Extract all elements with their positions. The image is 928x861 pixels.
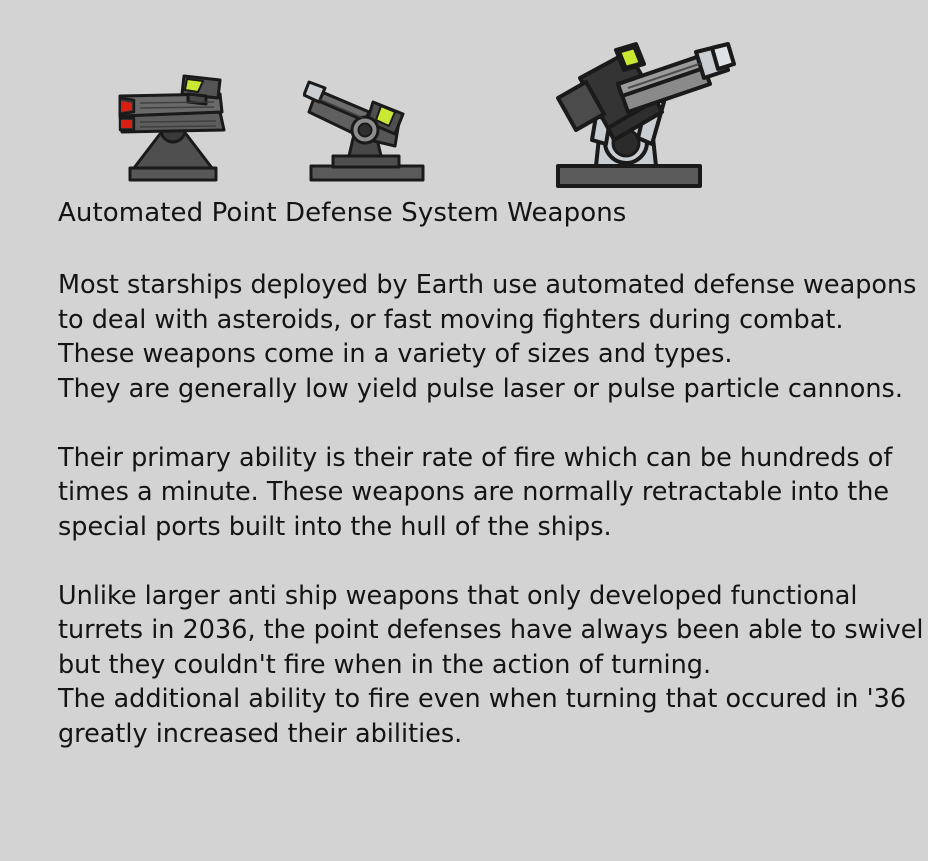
twin-barrel-turret-graphic — [108, 72, 238, 184]
body-text-block: Most starships deployed by Earth use aut… — [58, 268, 908, 751]
paragraph-rate-of-fire: Their primary ability is their rate of f… — [58, 441, 908, 545]
heavy-turret-graphic — [552, 40, 742, 192]
paragraph-turret-history: Unlike larger anti ship weapons that onl… — [58, 579, 908, 752]
page-root: Automated Point Defense System Weapons M… — [0, 0, 928, 861]
text-line: The additional ability to fire even when… — [58, 682, 908, 717]
text-line: to deal with asteroids, or fast moving f… — [58, 303, 908, 338]
angled-cannon-graphic — [303, 68, 435, 184]
text-line: but they couldn't fire when in the actio… — [58, 648, 908, 683]
text-line: These weapons come in a variety of sizes… — [58, 337, 908, 372]
text-line: Their primary ability is their rate of f… — [58, 441, 908, 476]
text-line: greatly increased their abilities. — [58, 717, 908, 752]
weapon-illustration-strip — [0, 0, 928, 192]
twin-barrel-point-defense-turret — [108, 72, 238, 184]
text-line: special ports built into the hull of the… — [58, 510, 908, 545]
text-line: times a minute. These weapons are normal… — [58, 475, 908, 510]
text-line: Most starships deployed by Earth use aut… — [58, 268, 908, 303]
text-line: turrets in 2036, the point defenses have… — [58, 613, 908, 648]
text-line: They are generally low yield pulse laser… — [58, 372, 908, 407]
paragraph-overview: Most starships deployed by Earth use aut… — [58, 268, 908, 406]
page-title: Automated Point Defense System Weapons — [58, 196, 626, 230]
text-line: Unlike larger anti ship weapons that onl… — [58, 579, 908, 614]
heavy-dual-pulse-cannon-turret — [552, 40, 742, 192]
angled-pulse-cannon-turret — [303, 68, 435, 184]
